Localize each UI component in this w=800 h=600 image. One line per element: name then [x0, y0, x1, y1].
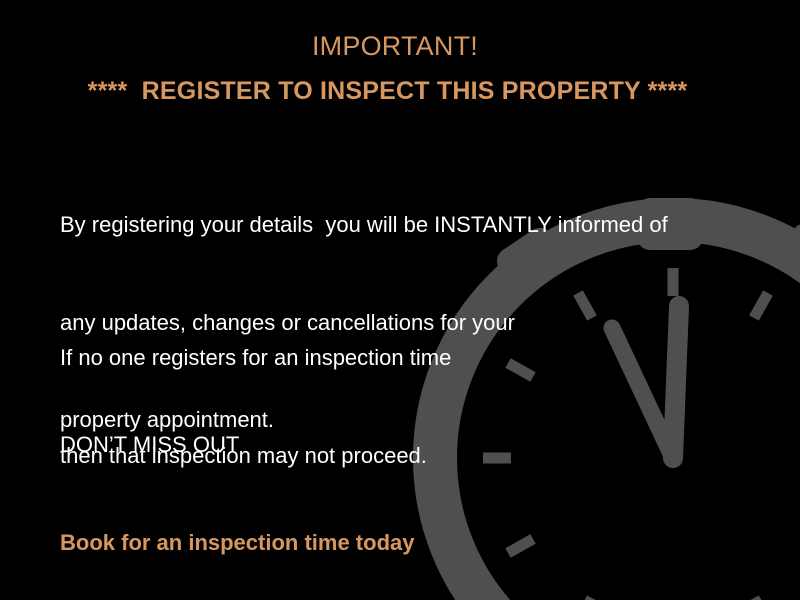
promo-slide: IMPORTANT! **** REGISTER TO INSPECT THIS… [0, 0, 800, 600]
slide-heading-important: IMPORTANT! [0, 30, 790, 62]
paragraph-call-to-action: DON’T MISS OUT Book for an inspection ti… [60, 364, 414, 600]
slide-text-layer: IMPORTANT! **** REGISTER TO INSPECT THIS… [0, 0, 800, 600]
cta-dont-miss-out: DON’T MISS OUT [60, 429, 414, 462]
paragraph-1-line-1: By registering your details you will be … [60, 209, 668, 242]
slide-heading-register: **** REGISTER TO INSPECT THIS PROPERTY *… [0, 76, 775, 106]
cta-book-inspection: Book for an inspection time today [60, 527, 414, 560]
